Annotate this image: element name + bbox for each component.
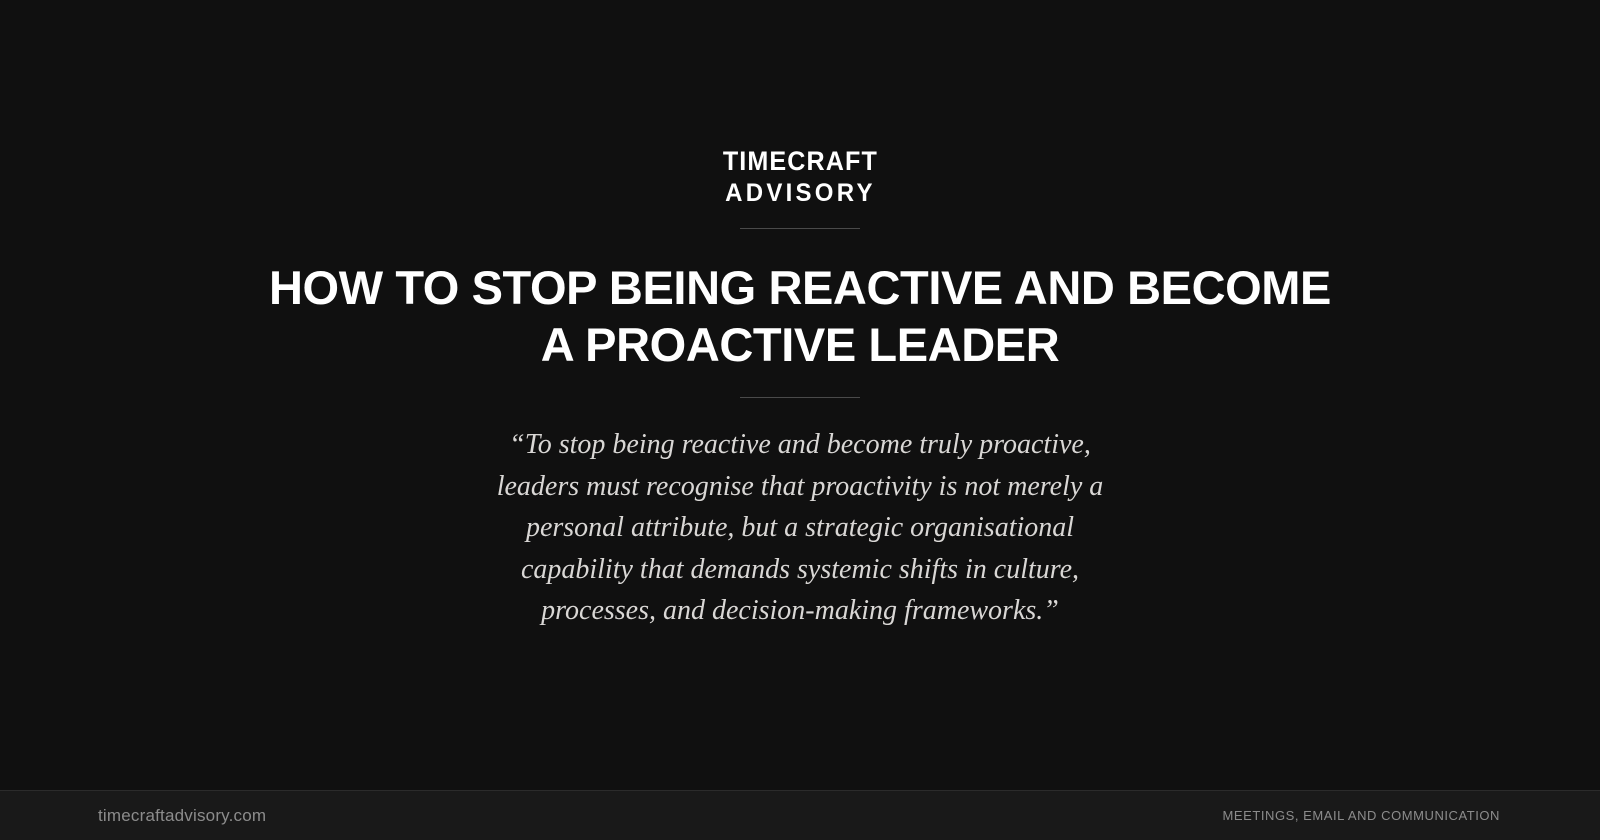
footer-category-label: MEETINGS, EMAIL AND COMMUNICATION: [1223, 808, 1500, 823]
slide-content: TIMECRAFT ADVISORY HOW TO STOP BEING REA…: [0, 0, 1600, 790]
page-title-line-1: HOW TO STOP BEING REACTIVE AND BECOME: [220, 259, 1380, 316]
brand-name-primary: TIMECRAFT: [722, 148, 877, 175]
slide-footer: timecraftadvisory.com MEETINGS, EMAIL AN…: [0, 790, 1600, 840]
footer-website-url: timecraftadvisory.com: [98, 806, 266, 826]
page-title-line-2: A PROACTIVE LEADER: [220, 316, 1380, 373]
divider-under-title: [740, 397, 860, 398]
brand-logo: TIMECRAFT ADVISORY: [717, 148, 884, 206]
pull-quote-line-3: personal attribute, but a strategic orga…: [420, 507, 1180, 549]
presentation-slide: TIMECRAFT ADVISORY HOW TO STOP BEING REA…: [0, 0, 1600, 840]
divider-under-logo: [740, 228, 860, 229]
pull-quote-line-2: leaders must recognise that proactivity …: [420, 466, 1180, 508]
pull-quote: “To stop being reactive and become truly…: [420, 424, 1180, 632]
brand-name-secondary: ADVISORY: [725, 181, 876, 206]
pull-quote-line-1: “To stop being reactive and become truly…: [420, 424, 1180, 466]
pull-quote-line-4: capability that demands systemic shifts …: [420, 549, 1180, 591]
pull-quote-line-5: processes, and decision-making framework…: [420, 590, 1180, 632]
page-title: HOW TO STOP BEING REACTIVE AND BECOME A …: [220, 259, 1380, 373]
